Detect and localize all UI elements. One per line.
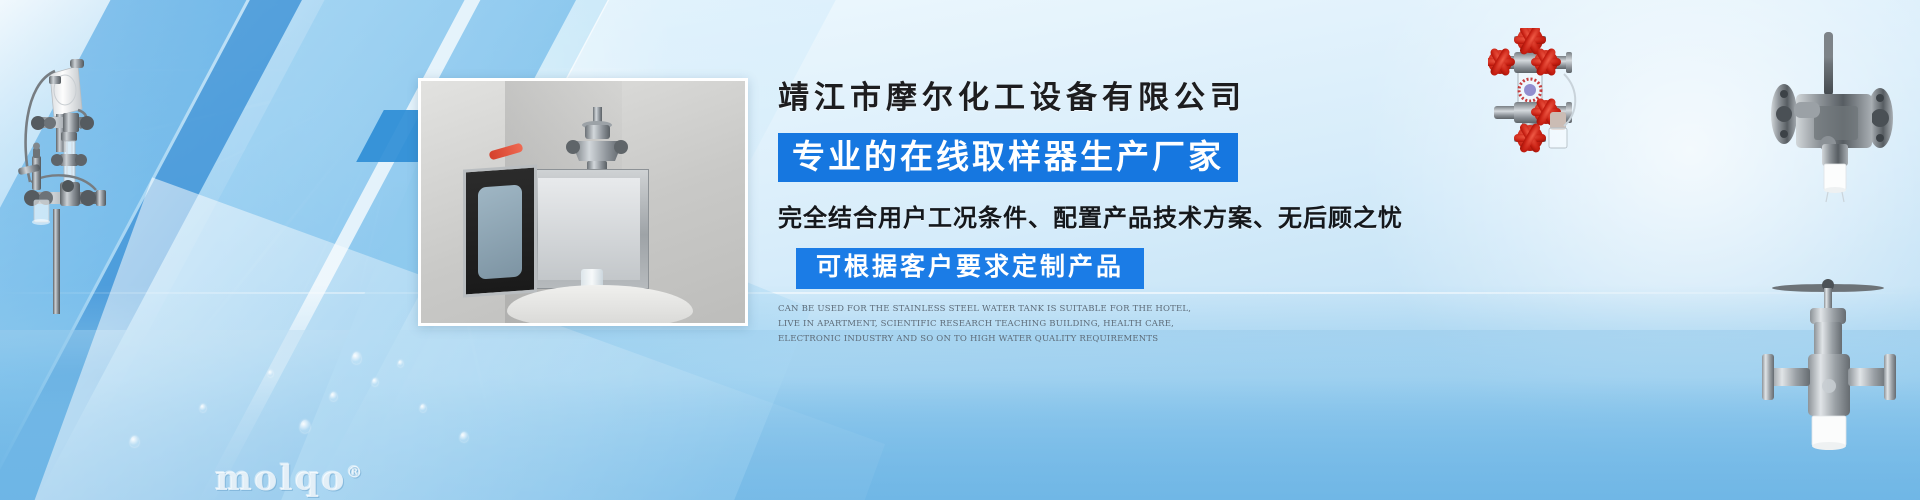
sun-ray (331, 0, 412, 71)
right-product-image (1760, 26, 1910, 216)
promo-banner: 靖江市摩尔化工设备有限公司 专业的在线取样器生产厂家 完全结合用户工况条件、配置… (0, 0, 1920, 500)
sub-headline: 完全结合用户工况条件、配置产品技术方案、无后顾之忧 (778, 198, 1418, 233)
sun-ray (409, 0, 661, 71)
sun-ray (159, 0, 410, 71)
sun-ray (184, 0, 411, 71)
banner-copy: 靖江市摩尔化工设备有限公司 专业的在线取样器生产厂家 完全结合用户工况条件、配置… (778, 72, 1418, 347)
photo-cabinet-door (463, 164, 537, 297)
sun-ray (409, 0, 411, 70)
photo-cabinet-inner (538, 178, 640, 280)
photo-valve-head (553, 107, 629, 173)
watermark-registered-icon: ® (347, 462, 365, 481)
fineprint-text: CAN BE USED FOR THE STAINLESS STEEL WATE… (778, 302, 1208, 347)
tagline-badge: 可根据客户要求定制产品 (796, 248, 1144, 289)
sun-ray (410, 69, 660, 72)
headline-badge: 专业的在线取样器生产厂家 (778, 133, 1238, 182)
bottom-right-product-image (1742, 256, 1917, 456)
watermark-logo: molqo® (215, 458, 365, 499)
sun-ray (409, 0, 566, 70)
sun-ray (166, 0, 410, 70)
photo-cabinet-window (478, 184, 522, 279)
watermark-logo-text: molqo (215, 458, 347, 499)
sun-ray (234, 29, 410, 71)
sun-ray (410, 29, 586, 71)
top-right-product-image (1488, 28, 1668, 148)
sun-ray (409, 0, 499, 70)
left-product-image (8, 14, 188, 314)
company-name: 靖江市摩尔化工设备有限公司 (778, 72, 1418, 117)
sun-ray (409, 0, 488, 70)
sun-ray (410, 0, 762, 71)
sun-ray (354, 0, 411, 70)
center-product-photo (418, 78, 748, 326)
